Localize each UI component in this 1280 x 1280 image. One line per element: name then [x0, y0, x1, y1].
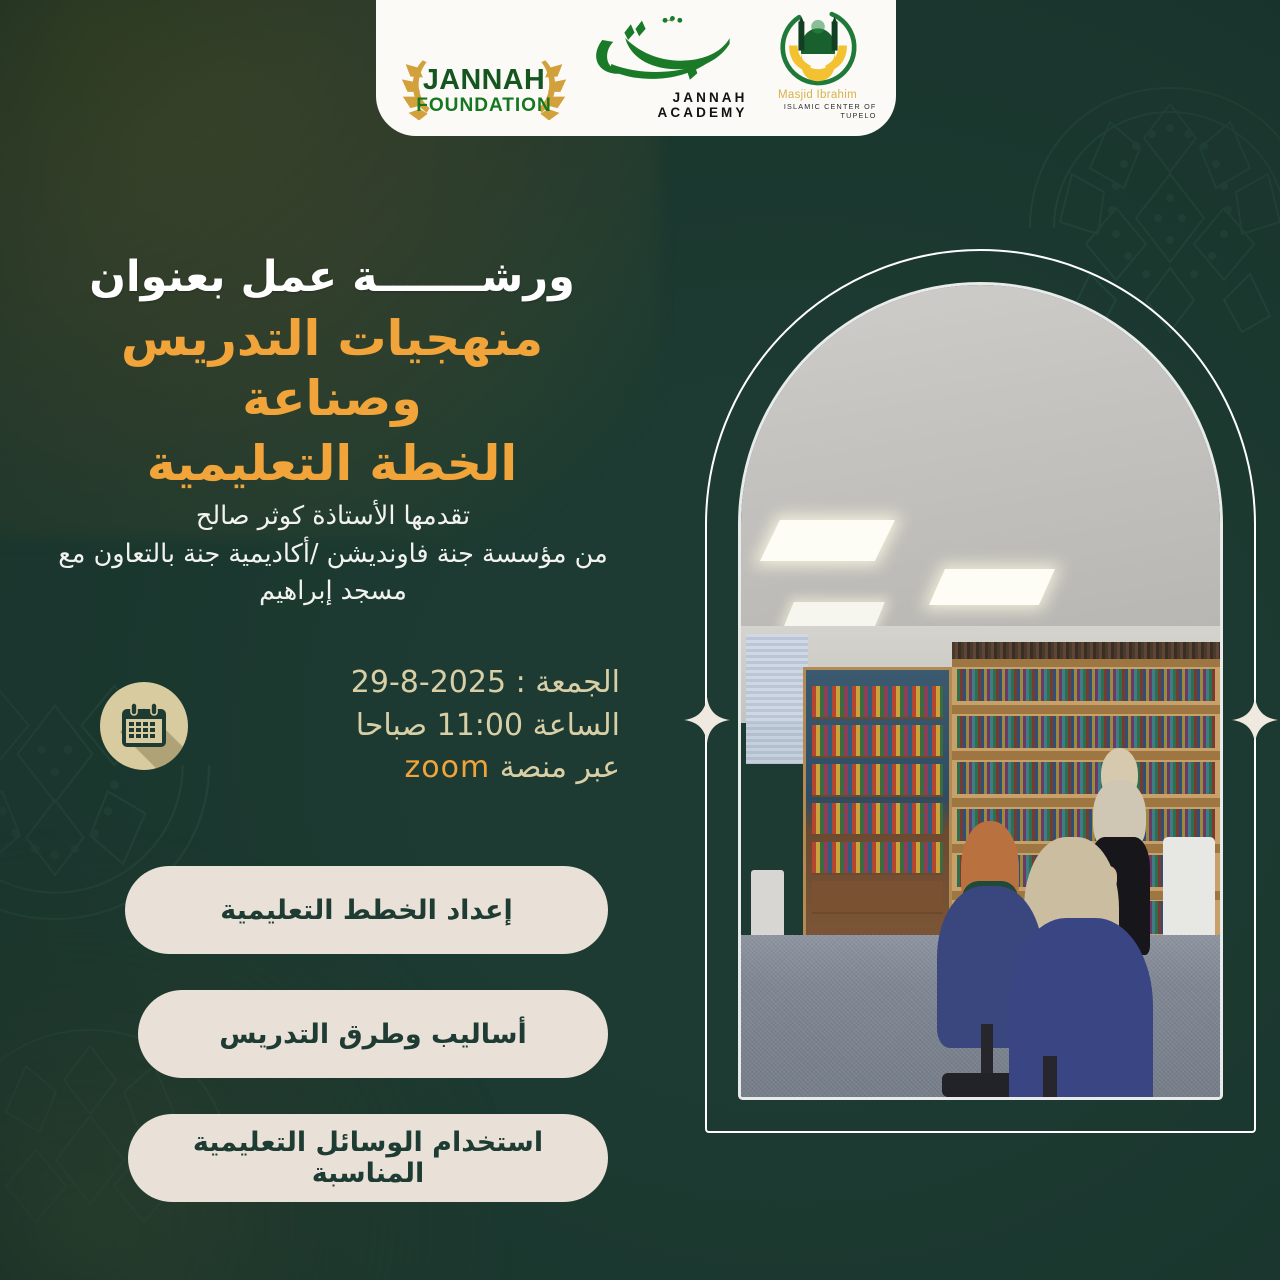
workshop-photo — [741, 285, 1220, 1097]
calendar-icon — [100, 682, 188, 770]
headline-title-line2: الخطة التعليمية — [44, 434, 620, 494]
headline-block: ورشـــــــة عمل بعنوان منهجيات التدريس و… — [44, 252, 620, 494]
topic-pill-2[interactable]: أساليب وطرق التدريس — [138, 990, 608, 1078]
logo-jannah-foundation: JANNAH FOUNDATION — [396, 56, 572, 120]
event-time: الساعة 11:00 صباحا — [214, 705, 620, 748]
four-point-sparkle-icon-right — [1232, 697, 1278, 743]
logo-masjid-subtitle: ISLAMIC CENTER OF TUPELO — [759, 102, 877, 120]
headline-kicker: ورشـــــــة عمل بعنوان — [44, 252, 620, 303]
event-platform-name: zoom — [405, 750, 491, 785]
topics-list: إعداد الخطط التعليمية أساليب وطرق التدري… — [118, 866, 608, 1238]
headline-title-line1: منهجيات التدريس وصناعة — [44, 309, 620, 429]
svg-text:JANNAH: JANNAH — [422, 64, 544, 96]
mosque-in-hands-icon — [775, 8, 861, 88]
presenter-line-3: مسجد إبراهيم — [46, 573, 620, 611]
event-platform: عبر منصة zoom — [214, 747, 620, 790]
logo-banner: Masjid Ibrahim ISLAMIC CENTER OF TUPELO — [376, 0, 896, 136]
event-platform-prefix: عبر منصة — [500, 750, 620, 785]
logo-masjid-name: Masjid Ibrahim — [778, 89, 857, 101]
jannah-calligraphy-icon — [590, 16, 740, 88]
topic-pill-1[interactable]: إعداد الخطط التعليمية — [125, 866, 608, 954]
svg-text:FOUNDATION: FOUNDATION — [416, 95, 552, 116]
logo-jannah-academy: JANNAH ACADEMY — [583, 16, 748, 120]
four-point-sparkle-icon-left — [684, 697, 730, 743]
logo-academy-name: JANNAH ACADEMY — [583, 90, 748, 120]
event-text-lines: الجمعة : 2025-8-29 الساعة 11:00 صباحا عب… — [214, 662, 620, 790]
wheat-laurel-icon: JANNAH FOUNDATION — [398, 56, 570, 120]
presenter-line-1: تقدمها الأستاذة كوثر صالح — [46, 498, 620, 536]
presenter-block: تقدمها الأستاذة كوثر صالح من مؤسسة جنة ف… — [46, 498, 620, 611]
event-date: الجمعة : 2025-8-29 — [214, 662, 620, 705]
event-details-block: الجمعة : 2025-8-29 الساعة 11:00 صباحا عب… — [100, 662, 620, 790]
topic-pill-3[interactable]: استخدام الوسائل التعليمية المناسبة — [128, 1114, 608, 1202]
poster-canvas: Masjid Ibrahim ISLAMIC CENTER OF TUPELO — [0, 0, 1280, 1280]
logo-masjid-ibrahim: Masjid Ibrahim ISLAMIC CENTER OF TUPELO — [759, 8, 877, 120]
presenter-line-2: من مؤسسة جنة فاونديشن /أكاديمية جنة بالت… — [46, 536, 620, 574]
